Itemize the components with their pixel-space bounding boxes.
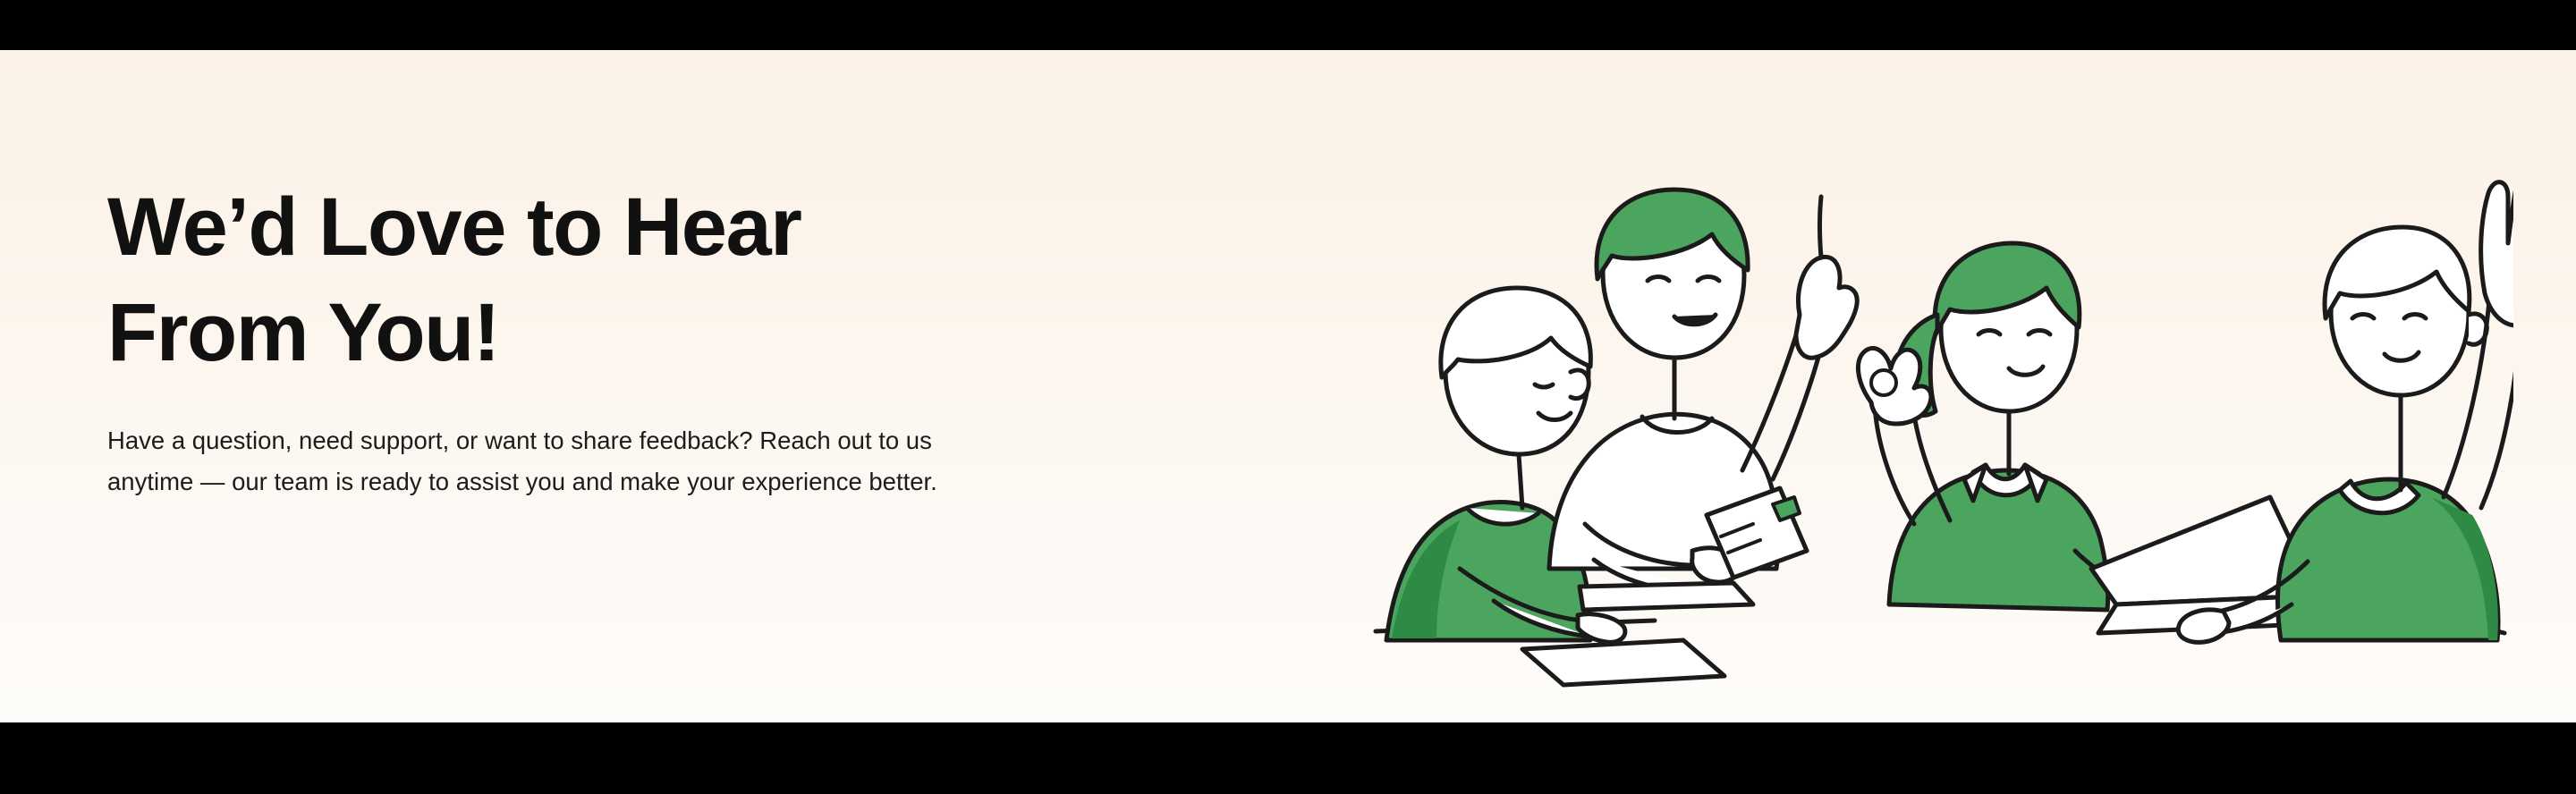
team-meeting-illustration — [1360, 104, 2513, 694]
hero-banner: We’d Love to Hear From You! Have a quest… — [0, 50, 2576, 722]
page-root: We’d Love to Hear From You! Have a quest… — [0, 0, 2576, 794]
top-letterbox-bar — [0, 0, 2576, 50]
page-title: We’d Love to Hear From You! — [107, 175, 1225, 386]
hero-text-block: We’d Love to Hear From You! Have a quest… — [107, 175, 1225, 503]
hero-description: Have a question, need support, or want t… — [107, 420, 1194, 503]
hero-content-wrapper: We’d Love to Hear From You! Have a quest… — [0, 50, 2576, 722]
illustration-svg — [1360, 104, 2513, 694]
person-pointing — [1549, 190, 1857, 610]
bottom-letterbox-bar — [0, 722, 2576, 794]
